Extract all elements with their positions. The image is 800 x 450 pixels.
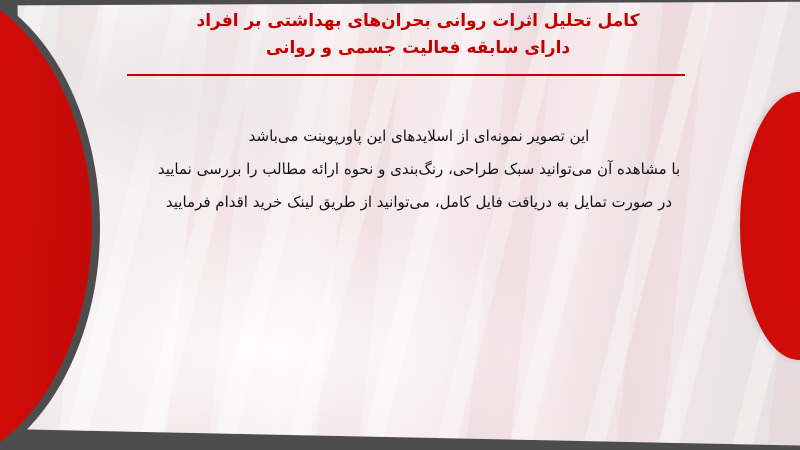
title-line-2: دارای سابقه فعالیت جسمی و روانی: [92, 35, 744, 62]
body-line-2: با مشاهده آن می‌توانید سبک طراحی، رنگ‌بن…: [90, 153, 748, 186]
title-divider-rule: [127, 74, 685, 76]
title-line-1: کامل تحلیل اثرات روانی بحران‌های بهداشتی…: [92, 8, 744, 35]
body-line-1: این تصویر نمونه‌ای از اسلایدهای این پاور…: [90, 120, 748, 153]
body-line-3: در صورت تمایل به دریافت فایل کامل، می‌تو…: [90, 186, 748, 219]
slide-title: کامل تحلیل اثرات روانی بحران‌های بهداشتی…: [92, 8, 744, 62]
presentation-slide: کامل تحلیل اثرات روانی بحران‌های بهداشتی…: [0, 0, 800, 450]
slide-body: این تصویر نمونه‌ای از اسلایدهای این پاور…: [90, 120, 748, 219]
slide-content: کامل تحلیل اثرات روانی بحران‌های بهداشتی…: [0, 0, 800, 450]
